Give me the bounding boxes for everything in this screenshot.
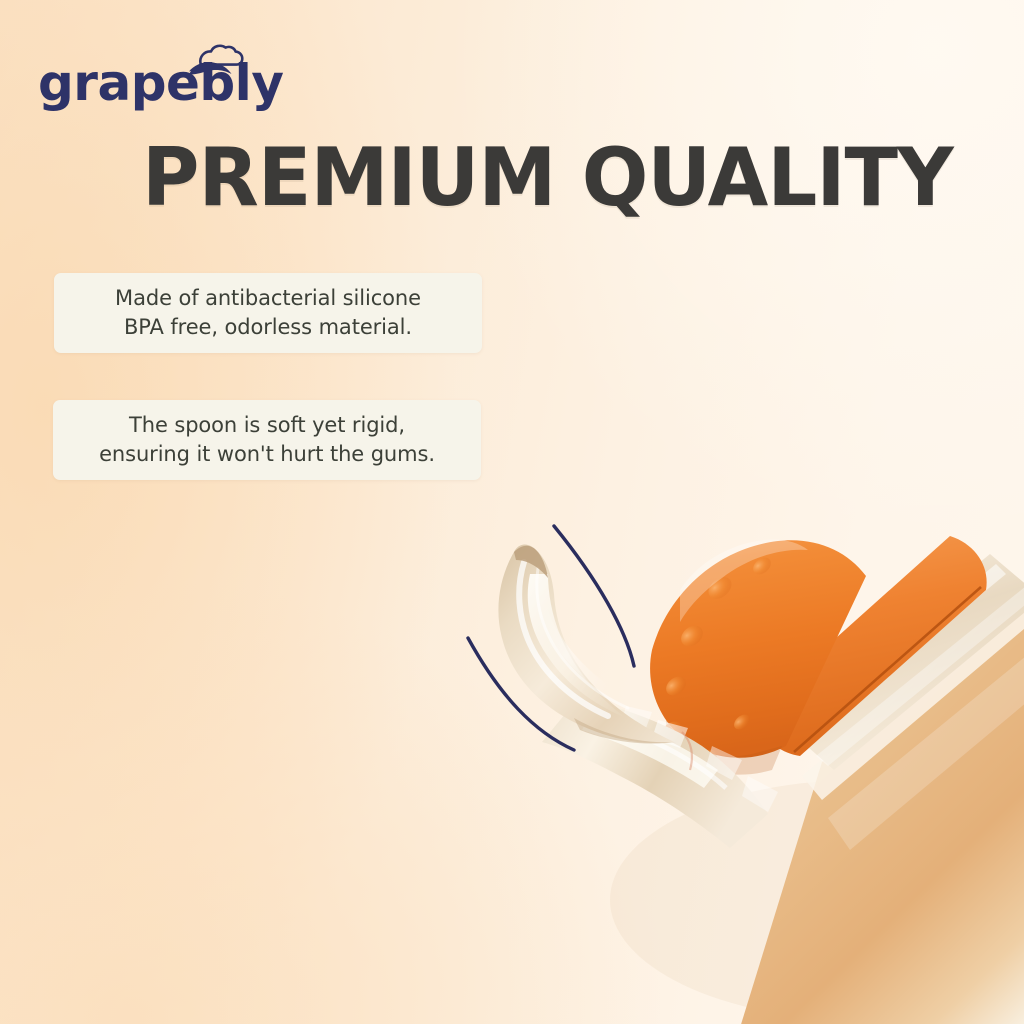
feature-card-soft-spoon: The spoon is soft yet rigid, ensuring it… [53, 400, 481, 480]
feature-card-text: The spoon is soft yet rigid, ensuring it… [99, 411, 435, 468]
page-title: PREMIUM QUALITY [142, 138, 887, 218]
brand-logo[interactable]: grapebly [38, 40, 338, 120]
feature-card-antibacterial: Made of antibacterial silicone BPA free,… [54, 273, 482, 353]
product-photo-silicone-feeding-spoon [430, 470, 1024, 1024]
feature-card-text: Made of antibacterial silicone BPA free,… [115, 284, 421, 341]
promo-poster: grapebly PREMIUM QUALITY Made of antibac… [0, 0, 1024, 1024]
cloud-leaf-icon [186, 42, 248, 86]
background-wash-top-right [444, 0, 1024, 540]
